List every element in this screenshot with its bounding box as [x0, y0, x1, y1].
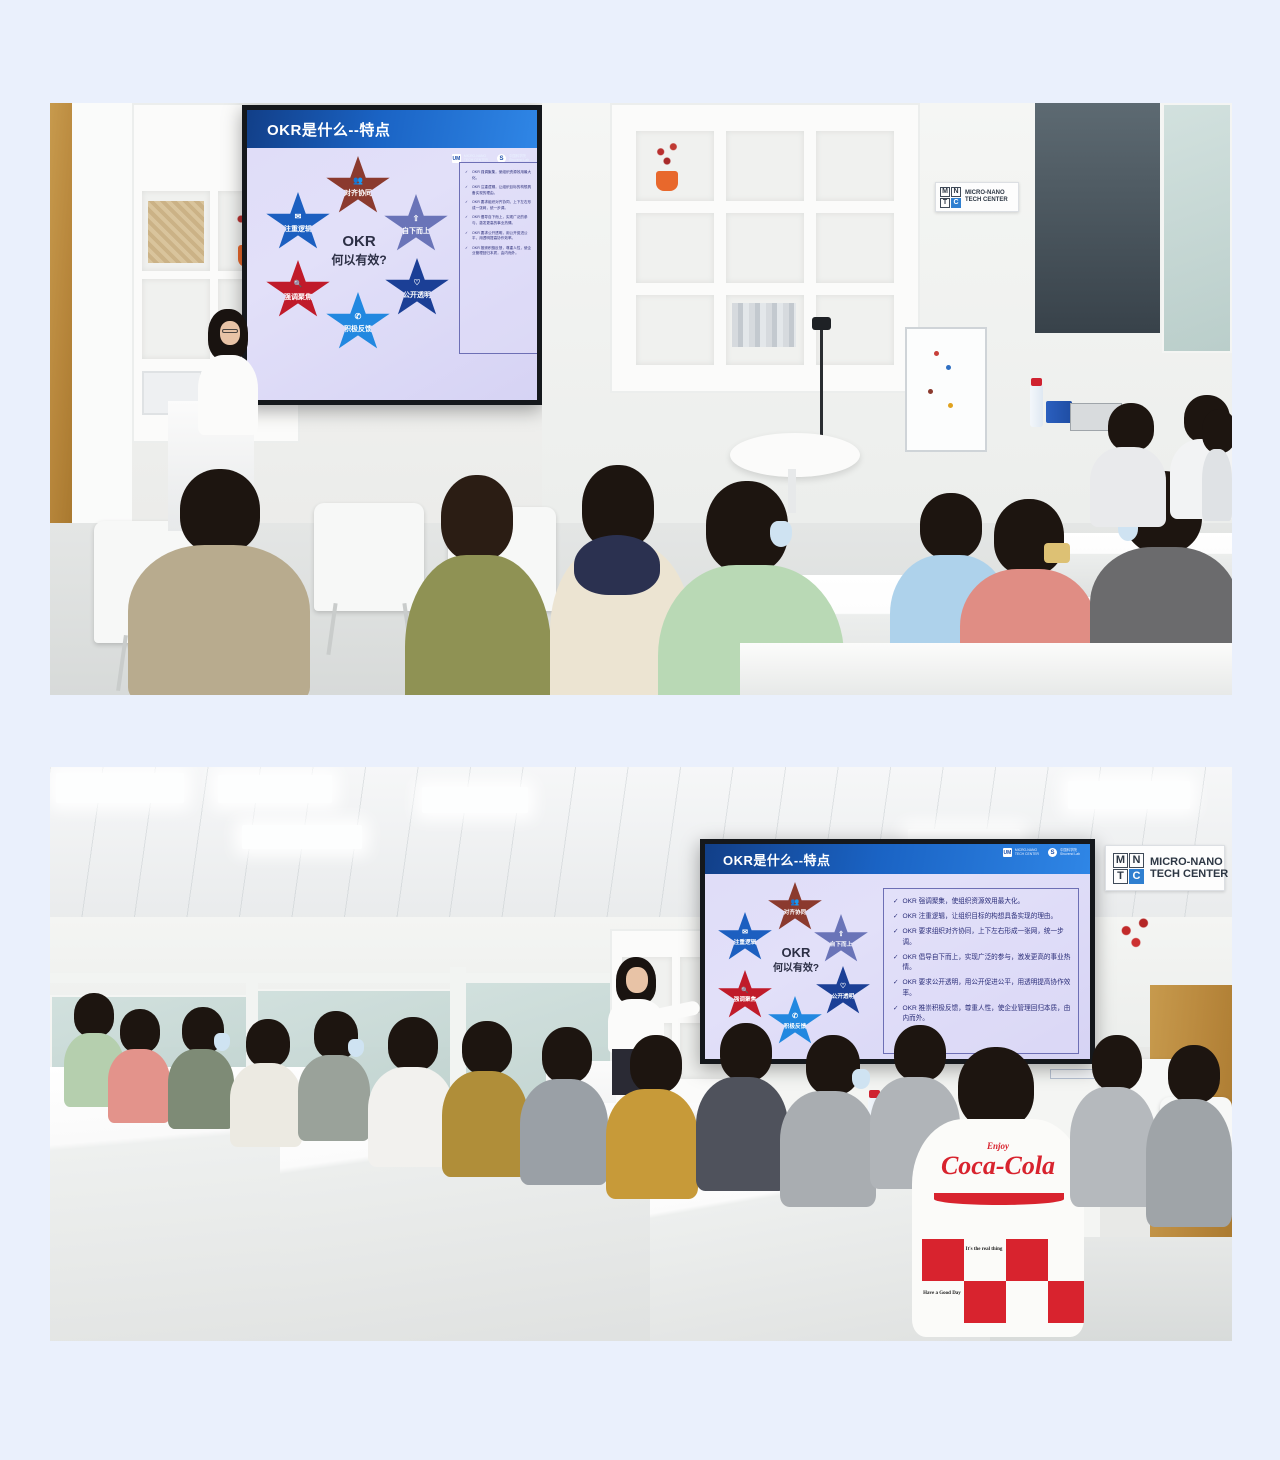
mntc-wall-sign-1: M N T C MICRO-NANO TECH CENTER	[935, 182, 1019, 212]
logo-partner-line2: Shuvend Lab	[1060, 853, 1080, 857]
bullet-row: ✓ OKR 推崇积极反馈，尊重人性，使企业管理回归本质，由内而外。	[465, 246, 534, 257]
heart-icon: ♡	[413, 279, 420, 287]
cola-can	[1046, 401, 1072, 423]
bullet-row: ✓ OKR 倡导自下而上，实现广泛的参与，激发更高的事业热情。	[893, 953, 1071, 973]
check-icon: ✓	[893, 897, 899, 907]
mntc-logo-grid: M N T C	[940, 187, 961, 208]
cola-tagline-b: Have a Good Day	[920, 1291, 964, 1296]
star-align-collaborate: 👥 对齐协同	[325, 156, 391, 218]
wood-decor-panel	[148, 201, 204, 263]
cola-swoosh	[934, 1193, 1064, 1205]
logo-mntc: UM MICRO-NANO TECH CENTER	[1003, 848, 1039, 857]
bullet-row: ✓ OKR 要求公开透明，用公开促进公平，用透明提高协作效率。	[465, 231, 534, 242]
attendee-head	[462, 1021, 512, 1075]
attendee	[1146, 1045, 1232, 1225]
ceiling-light	[56, 773, 184, 803]
slide-logo-row: UM MICRO-NANO TECH CENTER S 中国科学院 Shuven…	[1003, 848, 1080, 857]
bullet-row: ✓ OKR 注重逻辑，让组织目标的构想具备实现的理由。	[893, 912, 1071, 922]
bullet-text: OKR 倡导自下而上，实现广泛的参与，激发更高的事业热情。	[903, 953, 1071, 973]
glass-partition-far-right	[1162, 103, 1232, 353]
red-flowers-right	[646, 135, 688, 177]
cola-check-square	[1048, 1281, 1084, 1323]
mntc-wall-sign-2: M N T C MICRO-NANO TECH CENTER	[1105, 845, 1225, 891]
magnet-dot	[948, 403, 953, 408]
attendee-body	[108, 1049, 170, 1123]
photo-okr-training-wide-view: OKR是什么--特点 UM MICRO-NANO TECH CENTER S	[50, 767, 1232, 1341]
attendee-body	[168, 1049, 234, 1129]
phone-icon: ✆	[355, 313, 362, 321]
presenter-body	[198, 355, 258, 435]
hair-clip	[1044, 543, 1070, 563]
mic-head	[812, 317, 831, 330]
attendee-head	[542, 1027, 592, 1083]
search-icon: 🔍	[294, 281, 303, 288]
bullet-text: OKR 要求公开透明，用公开促进公平，用透明提高协作效率。	[903, 978, 1071, 998]
attendee-head	[246, 1019, 290, 1067]
up-arrow-icon: ⇧	[838, 931, 844, 938]
shelf-cell	[816, 295, 894, 365]
bullet-text: OKR 要求组织对齐协同，上下左右形成一张网，统一步调。	[472, 200, 534, 211]
slide-title: OKR是什么--特点	[267, 119, 390, 140]
star-label: 对齐协同	[344, 190, 372, 197]
bullet-text: OKR 推崇积极反馈，尊重人性，使企业管理回归本质，由内而外。	[472, 246, 534, 257]
attendee-body	[230, 1063, 302, 1147]
mntc-cell-m: M	[940, 187, 950, 197]
star-label: 自下而上	[402, 228, 430, 235]
bullet-text: OKR 要求公开透明，用公开促进公平，用透明提高协作效率。	[472, 231, 534, 242]
logo-mark-mntc: UM	[1003, 848, 1012, 857]
mntc-logo-grid: M N T C	[1113, 853, 1144, 884]
attendee-body	[1070, 1087, 1156, 1207]
star-label: 强调聚焦	[734, 998, 756, 1004]
attendee-scarf	[574, 535, 660, 595]
cola-enjoy-text: Enjoy	[912, 1141, 1084, 1151]
bullet-row: ✓ OKR 倡导自下而上，实现广泛的参与，激发更高的事业热情。	[465, 215, 534, 226]
attendee	[606, 1035, 698, 1195]
cola-tagline-a: It's the real thing	[962, 1247, 1006, 1252]
bullet-row: ✓ OKR 注重逻辑，让组织目标的构想具备实现的理由。	[465, 185, 534, 196]
attendee-head	[441, 475, 513, 561]
shelf-cell	[726, 213, 804, 283]
okr-center-line1: OKR	[761, 944, 831, 962]
bullet-row: ✓ OKR 强调聚集，使组织资源效用最大化。	[893, 897, 1071, 907]
presenter-glasses	[222, 329, 238, 333]
check-icon: ✓	[465, 185, 468, 196]
presenter2-face	[626, 967, 648, 993]
room-scene-wide: OKR是什么--特点 UM MICRO-NANO TECH CENTER S	[50, 767, 1232, 1341]
attendee	[230, 1019, 302, 1143]
mntc-cell-n: N	[951, 187, 961, 197]
foreground-desk	[740, 643, 1232, 695]
attendee-body	[780, 1091, 876, 1207]
slide-header: OKR是什么--特点	[247, 110, 537, 148]
logo-mark-partner: S	[1048, 848, 1057, 857]
attendee-body	[1146, 1099, 1232, 1227]
bullet-row: ✓ OKR 强调聚集，使组织资源效用最大化。	[465, 170, 534, 181]
logo-partner: S 中国科学院 Shuvend Lab	[1048, 848, 1080, 857]
star-label: 公开透明	[832, 995, 854, 1001]
attendee-body	[696, 1077, 788, 1191]
bullet-row: ✓ OKR 要求组织对齐协同，上下左右形成一张网，统一步调。	[465, 200, 534, 211]
attendee	[520, 1027, 608, 1181]
attendee-body	[298, 1055, 370, 1141]
phone-icon: ✆	[792, 1013, 798, 1020]
mntc-cell-n: N	[1129, 853, 1144, 868]
check-icon: ✓	[893, 912, 899, 922]
attendee	[405, 475, 551, 695]
okr-center-text: OKR 何以有效?	[319, 232, 399, 268]
mntc-sign-line1: MICRO-NANO	[1150, 856, 1228, 868]
wood-door-left	[50, 103, 72, 523]
presenter	[198, 311, 260, 431]
mntc-sign-line2: TECH CENTER	[1150, 868, 1228, 880]
presenter-face	[220, 321, 240, 345]
attendee-head	[720, 1023, 772, 1081]
star-label: 强调聚焦	[284, 294, 312, 301]
red-flowers-far-right	[1110, 909, 1164, 963]
mic-stand	[820, 325, 823, 450]
check-icon: ✓	[893, 1004, 899, 1024]
okr-center-line1: OKR	[319, 232, 399, 252]
magnet-dot	[928, 389, 933, 394]
bullet-row: ✓ OKR 要求组织对齐协同，上下左右形成一张网，统一步调。	[893, 927, 1071, 947]
photo-okr-training-front-view: OKR是什么--特点 UM MICRO-NANO TECH CENTER S	[50, 103, 1232, 695]
attendee-head	[388, 1017, 438, 1071]
face-mask	[770, 521, 792, 547]
ceiling-light	[422, 787, 528, 813]
okr-bullet-panel: ✓ OKR 强调聚集，使组织资源效用最大化。 ✓ OKR 注重逻辑，让组织目标的…	[459, 162, 537, 354]
star-label: 公开透明	[403, 292, 431, 299]
shelf-cell	[636, 295, 714, 365]
bullet-row: ✓ OKR 要求公开透明，用公开促进公平，用透明提高协作效率。	[893, 978, 1071, 998]
attendee	[168, 1007, 234, 1127]
people-icon: 👥	[791, 899, 800, 906]
search-icon: 🔍	[741, 988, 748, 994]
attendee-body	[405, 555, 551, 695]
cola-brand-text: Coca-Cola	[912, 1151, 1084, 1181]
check-icon: ✓	[465, 215, 468, 226]
cola-check-square	[1006, 1239, 1048, 1281]
bullet-text: OKR 要求组织对齐协同，上下左右形成一张网，统一步调。	[903, 927, 1071, 947]
attendee	[298, 1011, 370, 1137]
mntc-cell-c: C	[1129, 869, 1144, 884]
people-icon: 👥	[353, 177, 363, 185]
attendee-head	[1108, 403, 1154, 451]
attendee-body	[1090, 447, 1166, 527]
star-positive-feedback: ✆ 积极反馈	[325, 292, 391, 354]
ceiling-light	[1068, 781, 1190, 809]
star-label: 对齐协同	[784, 911, 806, 917]
check-icon: ✓	[893, 927, 899, 947]
check-icon: ✓	[465, 231, 468, 242]
shelf-cell	[816, 213, 894, 283]
mntc-cell-t: T	[1113, 869, 1128, 884]
attendee-body	[128, 545, 310, 695]
bottle-cap	[1031, 378, 1042, 386]
attendee-head	[806, 1035, 860, 1095]
shelf-cell	[816, 131, 894, 201]
slide-title: OKR是什么--特点	[723, 850, 831, 869]
shelf-cell	[726, 131, 804, 201]
attendee	[1070, 1035, 1156, 1205]
attendee-head	[630, 1035, 682, 1093]
attendee-head	[1092, 1035, 1142, 1091]
room-scene-front: OKR是什么--特点 UM MICRO-NANO TECH CENTER S	[50, 103, 1232, 695]
star-align-collaborate: 👥 对齐协同	[767, 882, 823, 934]
mntc-sign-line1: MICRO-NANO	[965, 190, 1008, 197]
bullet-row: ✓ OKR 推崇积极反馈，尊重人性，使企业管理回归本质，由内而外。	[893, 1004, 1071, 1024]
attendee-body	[520, 1079, 608, 1185]
window-dark-right	[1035, 103, 1160, 333]
bullet-text: OKR 注重逻辑，让组织目标的构想具备实现的理由。	[903, 912, 1071, 922]
check-icon: ✓	[893, 978, 899, 998]
mntc-cell-t: T	[940, 198, 950, 208]
logo-mntc-line2: TECH CENTER	[1015, 853, 1039, 857]
attendee	[128, 469, 310, 695]
attendee-head	[1202, 409, 1232, 453]
left-white-pillar	[72, 103, 132, 573]
attendee-body	[1202, 449, 1232, 521]
check-icon: ✓	[893, 953, 899, 973]
okr-slide-1: OKR是什么--特点 UM MICRO-NANO TECH CENTER S	[247, 110, 537, 400]
bullet-text: OKR 强调聚集，使组织资源效用最大化。	[903, 897, 1071, 907]
ceiling-light	[242, 825, 362, 849]
bullet-text: OKR 注重逻辑，让组织目标的构想具备实现的理由。	[472, 185, 534, 196]
coca-cola-jacket: Enjoy Coca-Cola It's the real thing Have…	[912, 1119, 1084, 1337]
attendee-head	[994, 499, 1064, 575]
check-icon: ✓	[465, 200, 468, 211]
check-icon: ✓	[465, 246, 468, 257]
shelf-cell	[636, 213, 714, 283]
attendee-head	[958, 1047, 1034, 1129]
cola-check-square	[922, 1239, 964, 1281]
okr-center-line2: 何以有效?	[761, 962, 831, 976]
presentation-display-1: OKR是什么--特点 UM MICRO-NANO TECH CENTER S	[242, 105, 542, 405]
magnet-dot	[946, 365, 951, 370]
whiteboard	[905, 327, 987, 452]
up-arrow-icon: ⇧	[413, 215, 420, 223]
mntc-sign-line2: TECH CENTER	[965, 197, 1008, 204]
attendee-head	[1168, 1045, 1220, 1103]
attendee	[442, 1021, 528, 1173]
magnet-dot	[934, 351, 939, 356]
star-emphasize-focus: 🔍 强调聚焦	[265, 260, 331, 322]
envelope-icon: ✉	[295, 213, 302, 221]
attendee-head	[120, 1009, 160, 1053]
face-mask	[214, 1033, 230, 1051]
water-bottle	[1030, 385, 1043, 427]
mntc-cell-m: M	[1113, 853, 1128, 868]
star-label: 注重逻辑	[734, 941, 756, 947]
star-label: 注重逻辑	[284, 226, 312, 233]
mntc-cell-c: C	[951, 198, 961, 208]
attendee	[696, 1023, 788, 1187]
attendee-head	[180, 469, 260, 553]
heart-icon: ♡	[840, 983, 846, 990]
cola-check-square	[964, 1281, 1006, 1323]
attendee-cola-jacket: Enjoy Coca-Cola It's the real thing Have…	[912, 1047, 1084, 1337]
bullet-text: OKR 倡导自下而上，实现广泛的参与，激发更高的事业热情。	[472, 215, 534, 226]
envelope-icon: ✉	[742, 929, 748, 936]
attendee-body	[442, 1071, 528, 1177]
star-label: 自下而上	[830, 943, 852, 949]
books-shelf	[732, 303, 796, 347]
attendee	[780, 1035, 876, 1203]
attendee	[1202, 409, 1232, 519]
bullet-text: OKR 强调聚集，使组织资源效用最大化。	[472, 170, 534, 181]
star-label: 积极反馈	[344, 326, 372, 333]
okr-center-line2: 何以有效?	[319, 252, 399, 268]
attendee	[1090, 403, 1166, 523]
okr-center-text: OKR 何以有效?	[761, 944, 831, 975]
attendee-body	[606, 1089, 698, 1199]
attendee	[108, 1009, 170, 1119]
face-mask	[348, 1039, 364, 1057]
star-emphasize-focus: 🔍 强调聚焦	[717, 970, 773, 1022]
check-icon: ✓	[465, 170, 468, 181]
bullet-text: OKR 推崇积极反馈，尊重人性，使企业管理回归本质，由内而外。	[903, 1004, 1071, 1024]
ceiling-light	[218, 775, 332, 803]
photo-collage-page: OKR是什么--特点 UM MICRO-NANO TECH CENTER S	[0, 0, 1280, 1460]
face-mask	[852, 1069, 870, 1089]
